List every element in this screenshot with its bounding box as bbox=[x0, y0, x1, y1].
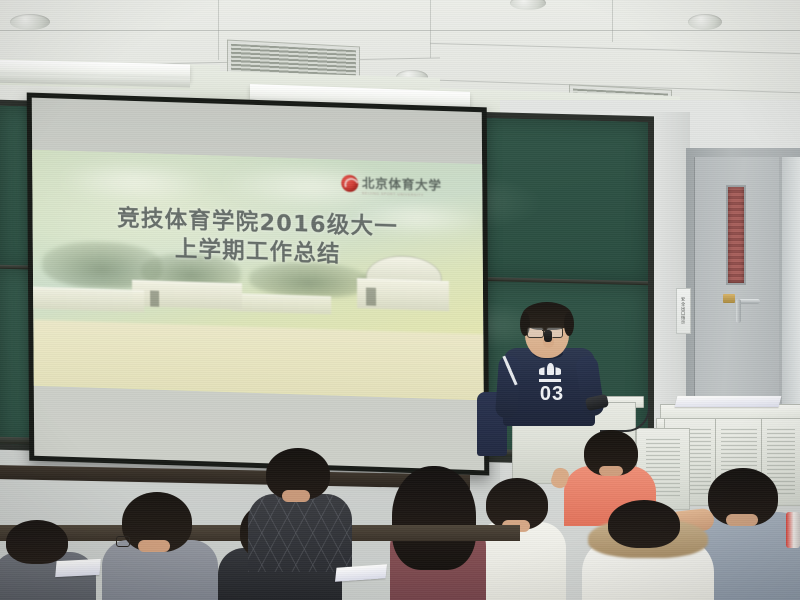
slide-foreground-ground bbox=[33, 320, 483, 401]
list-item bbox=[594, 500, 702, 600]
door-lock-icon[interactable] bbox=[723, 294, 735, 303]
ceiling-speaker-2 bbox=[510, 0, 546, 10]
door-window bbox=[726, 185, 746, 285]
screen-surface: 北京体育大学 BEIJING SPORT UNIVERSITY 竞技体育学院20… bbox=[32, 98, 484, 471]
adidas-trefoil-bar-icon bbox=[539, 379, 561, 382]
papers-on-cabinet[interactable] bbox=[675, 396, 782, 407]
paper-on-desk[interactable] bbox=[55, 559, 101, 577]
lecture-hall-photo: 北京体育大学 BEIJING SPORT UNIVERSITY 竞技体育学院20… bbox=[0, 0, 800, 600]
student-presenter: 03 bbox=[495, 300, 605, 420]
red-swirl-circle-icon bbox=[341, 174, 358, 192]
student-hair bbox=[6, 520, 68, 564]
student-neck bbox=[599, 466, 623, 476]
university-logo: 北京体育大学 BEIJING SPORT UNIVERSITY bbox=[341, 171, 442, 197]
door-handle-stem[interactable] bbox=[736, 299, 741, 323]
presenter-hair-side bbox=[564, 312, 574, 336]
microphone-icon bbox=[544, 330, 552, 342]
wall-sign-text: 安全出口指示 bbox=[681, 297, 686, 325]
slide-wall-left bbox=[32, 286, 144, 312]
jersey-number: 03 bbox=[536, 383, 568, 406]
quilt-lines bbox=[248, 494, 352, 572]
glasses-icon bbox=[116, 536, 130, 547]
student-neck bbox=[282, 490, 310, 502]
slide-building-left bbox=[132, 280, 242, 310]
wall-sign: 安全出口指示 bbox=[676, 288, 691, 334]
water-bottle[interactable] bbox=[786, 512, 800, 548]
ceiling-speaker-3 bbox=[688, 14, 722, 30]
projection-screen[interactable]: 北京体育大学 BEIJING SPORT UNIVERSITY 竞技体育学院20… bbox=[27, 93, 490, 476]
glasses-icon bbox=[527, 327, 544, 338]
student-neck bbox=[726, 514, 758, 526]
slide-wall-center bbox=[231, 293, 331, 314]
list-item bbox=[700, 468, 800, 600]
projected-slide: 北京体育大学 BEIJING SPORT UNIVERSITY 竞技体育学院20… bbox=[32, 150, 484, 401]
student-hair bbox=[608, 500, 680, 548]
list-item bbox=[252, 448, 344, 568]
ceiling-speaker-1 bbox=[10, 14, 50, 30]
adidas-trefoil-icon bbox=[539, 363, 561, 380]
student-hair bbox=[392, 466, 476, 570]
student-neck bbox=[138, 540, 170, 552]
list-item bbox=[112, 492, 208, 600]
logo-text-cn: 北京体育大学 bbox=[362, 172, 442, 194]
